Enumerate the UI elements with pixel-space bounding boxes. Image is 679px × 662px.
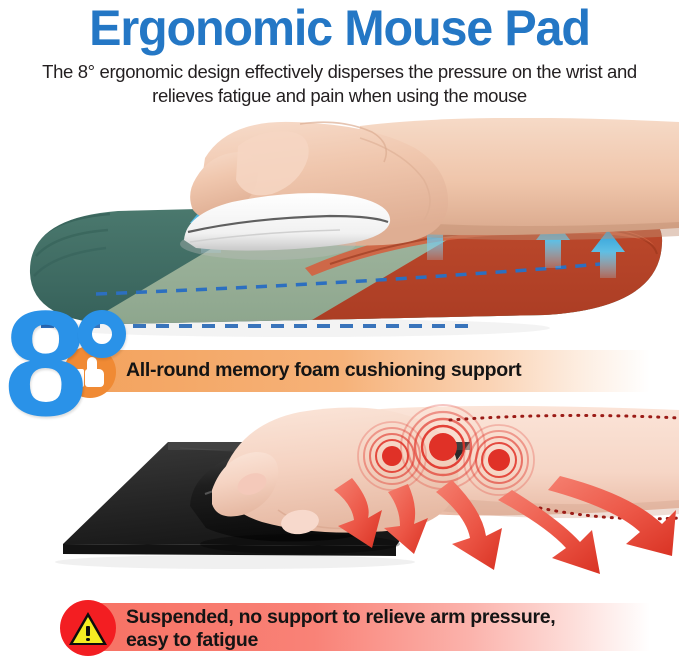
degree-symbol-icon [78,310,126,358]
drawback-banner-text: Suspended, no support to relieve arm pre… [126,606,555,653]
page-subtitle: The 8° ergonomic design effectively disp… [14,60,665,108]
drawback-banner: Suspended, no support to relieve arm pre… [0,600,679,660]
benefit-banner-text: All-round memory foam cushioning support [126,359,521,382]
warning-triangle-icon [60,600,116,656]
top-illustration: 8 [0,118,679,343]
page-title: Ergonomic Mouse Pad [10,2,669,54]
header: Ergonomic Mouse Pad The 8° ergonomic des… [0,0,679,108]
bottom-illustration [0,398,679,598]
drawback-line-1: Suspended, no support to relieve arm pre… [126,606,555,629]
angle-badge-number: 8 [4,304,81,422]
drawback-line-2: easy to fatigue [126,629,555,652]
product-infographic: Ergonomic Mouse Pad The 8° ergonomic des… [0,0,679,662]
